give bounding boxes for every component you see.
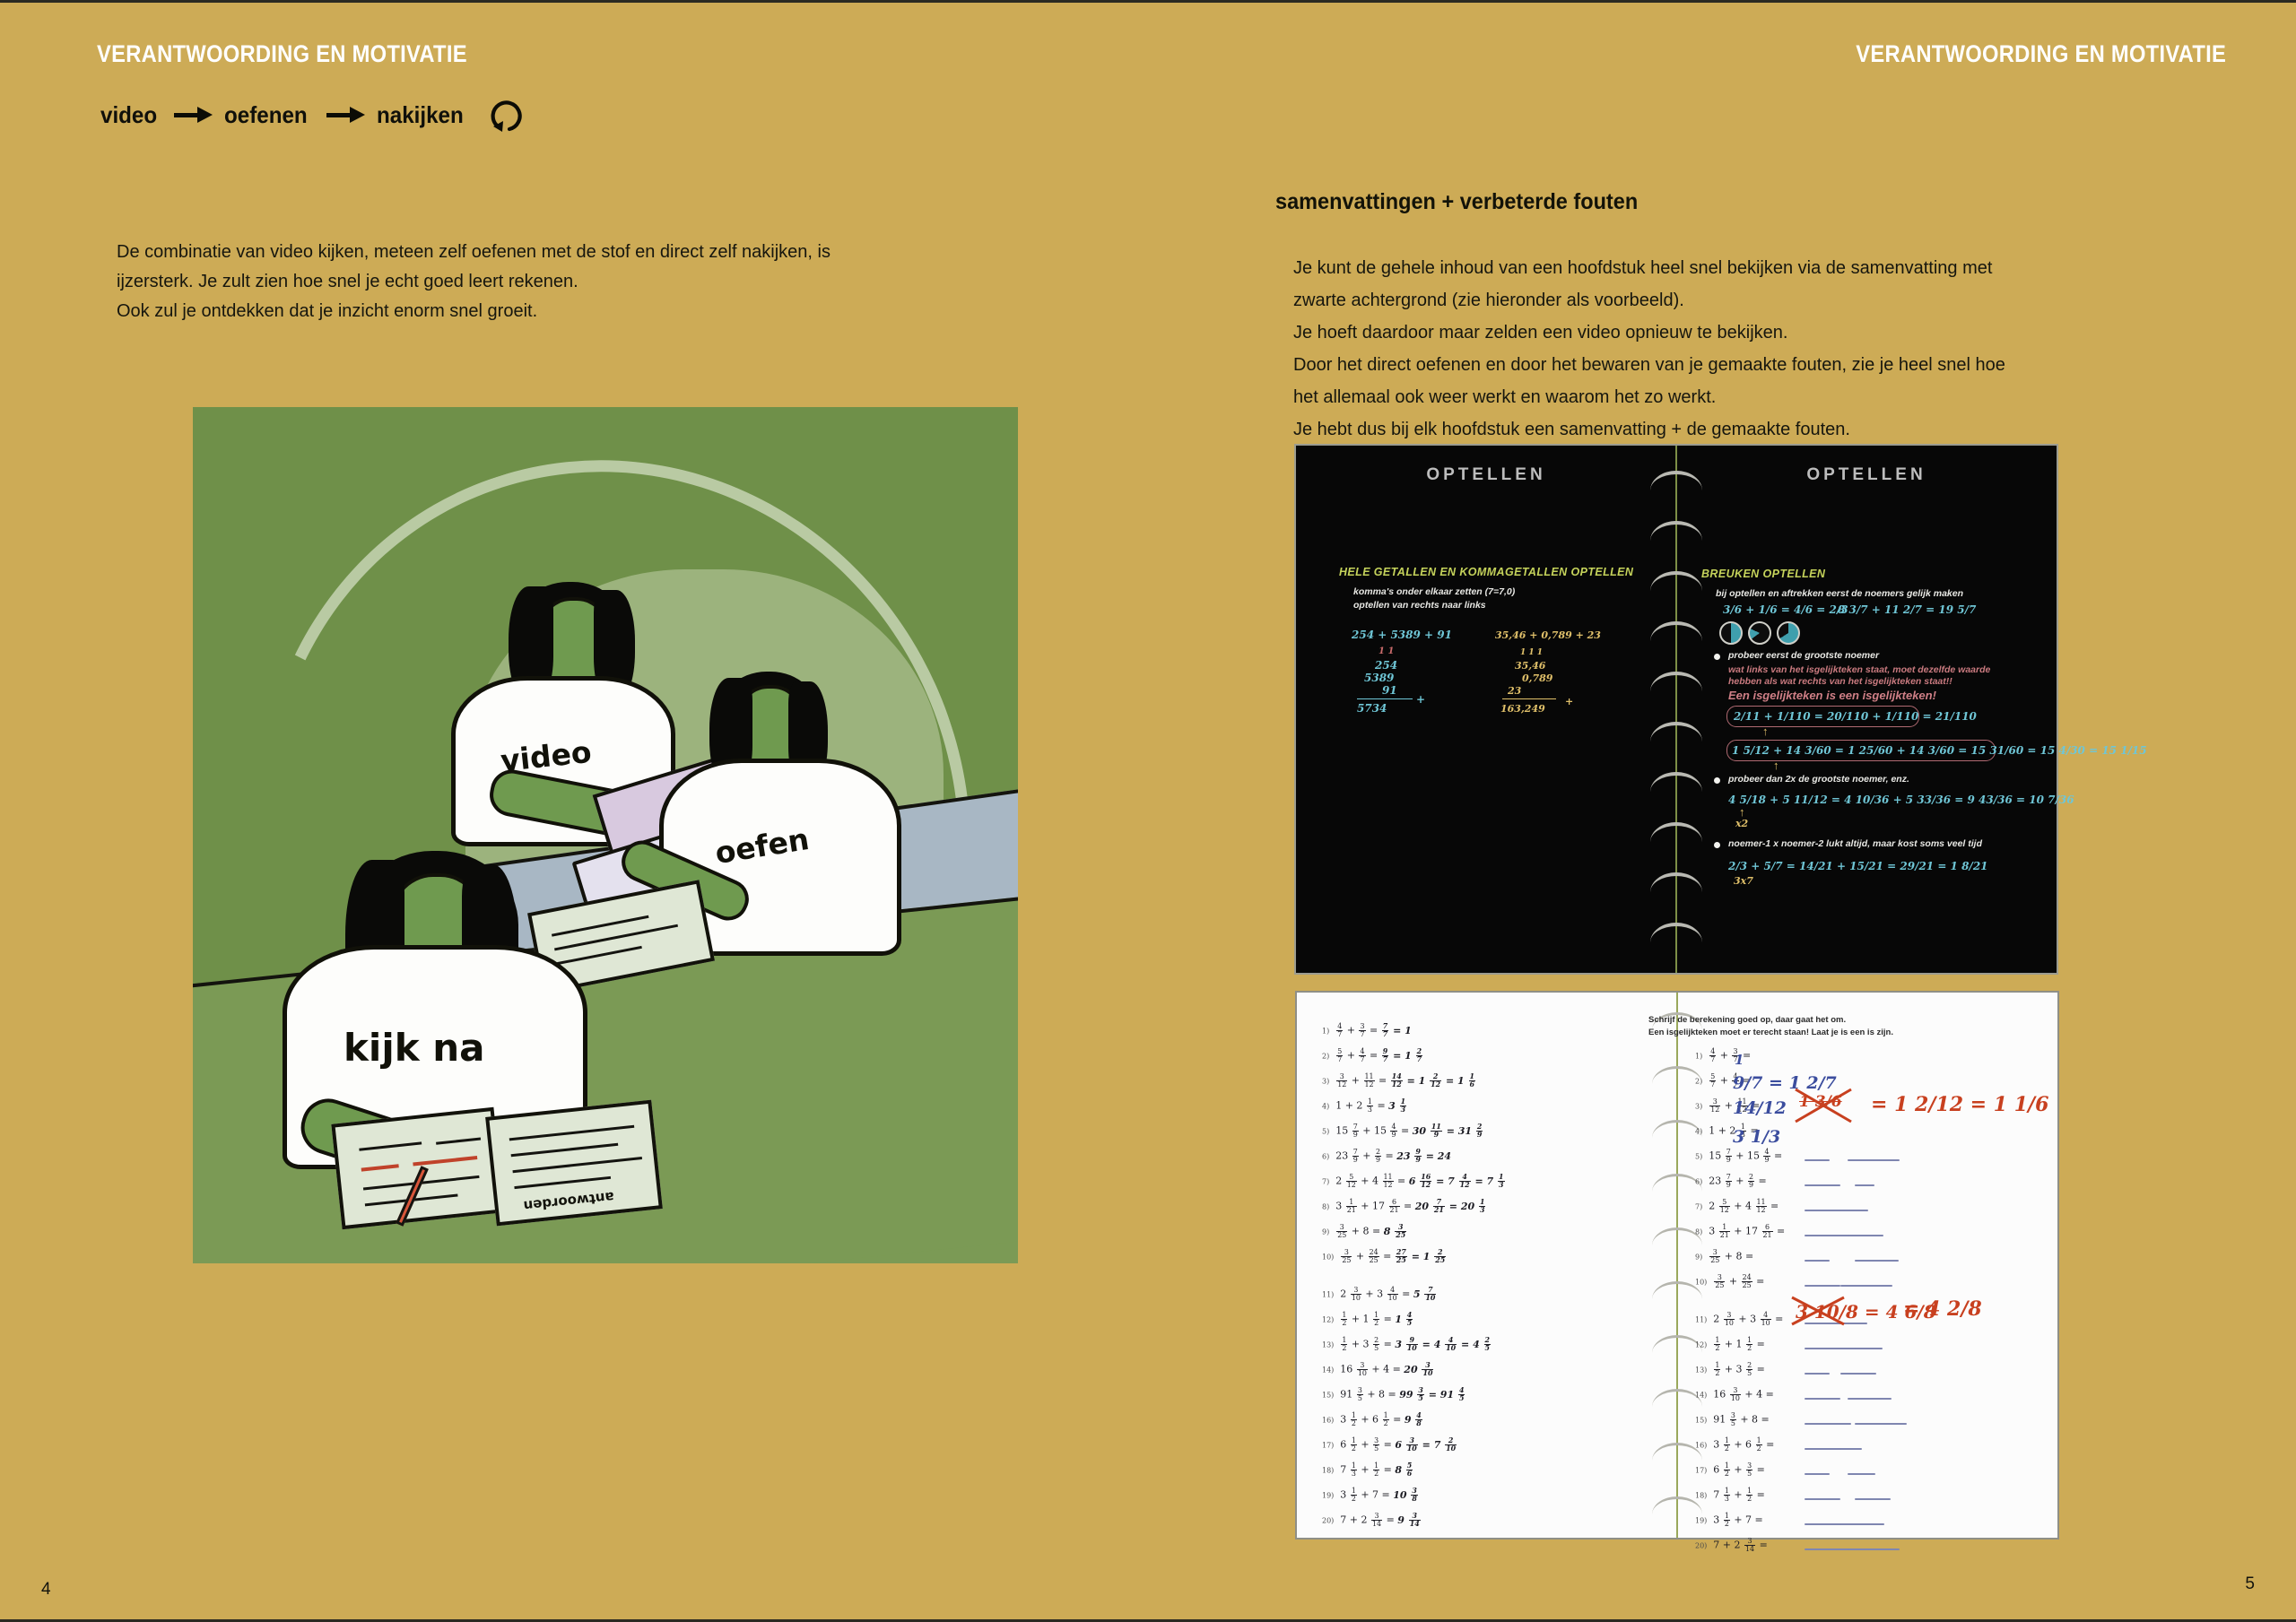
black-sum-b-term-3: 23 xyxy=(1508,684,1521,698)
worksheet-answer-blank xyxy=(1848,1473,1875,1475)
black-summary-notebook-spread: OPTELLEN HELE GETALLEN EN KOMMAGETALLEN … xyxy=(1294,444,2058,975)
worksheet-right-exercise-row: 20) 7 + 2 314 = xyxy=(1695,1538,1768,1553)
illustration-exercise-book xyxy=(331,1107,504,1229)
cross-out-icon xyxy=(1792,1086,1857,1125)
worksheet-answer-blank xyxy=(1840,1210,1868,1211)
worksheet-right-exercise-row: 11) 2 310 + 3 410 = xyxy=(1695,1312,1783,1327)
cross-out-icon-2 xyxy=(1788,1294,1851,1330)
worksheet-answer-blank xyxy=(1848,1159,1900,1161)
black-chain-3: 4 5/18 + 5 11/12 = 4 10/36 + 5 33/36 = 9… xyxy=(1728,794,2074,806)
black-sum-b-rule xyxy=(1502,698,1556,699)
worksheet-left-exercise-row: 7) 2 512 + 4 1112 = 6 1612 = 7 412 = 7 1… xyxy=(1322,1174,1506,1189)
worksheet-left-exercise-row: 10) 325 + 2425 = 2725 = 1 225 xyxy=(1322,1249,1447,1264)
black-sum-a-plus: + xyxy=(1416,693,1425,706)
workflow-step-nakijken: nakijken xyxy=(377,101,464,129)
worksheet-left-exercise-row: 17) 6 12 + 35 = 6 310 = 7 210 xyxy=(1322,1437,1457,1453)
worksheet-right-exercise-row: 17) 6 12 + 35 = xyxy=(1695,1462,1765,1478)
worksheet-left-exercise-row: 16) 3 12 + 6 12 = 9 48 xyxy=(1322,1412,1423,1427)
worksheet-right-exercise-row: 19) 3 12 + 7 = xyxy=(1695,1513,1763,1528)
worksheet-left-exercise-row: 6) 23 79 + 29 = 23 99 = 24 xyxy=(1322,1149,1451,1164)
black-chain-4: 2/3 + 5/7 = 14/21 + 15/21 = 29/21 = 1 8/… xyxy=(1728,860,1988,872)
black-annotation-x2: x2 xyxy=(1735,817,1748,830)
page-number-left: 4 xyxy=(41,1580,51,1600)
black-sum-b-total: 163,249 xyxy=(1500,702,1545,716)
worksheet-answer-blank xyxy=(1805,1184,1840,1186)
black-sum-a-expression: 254 + 5389 + 91 xyxy=(1352,629,1452,641)
worksheet-answer-blank xyxy=(1805,1373,1830,1375)
worksheet-answer-blank xyxy=(1840,1448,1860,1450)
worksheet-answer-blank xyxy=(1805,1260,1830,1262)
right-paragraph-line-4: Door het direct oefenen en door het bewa… xyxy=(1293,349,2083,381)
right-paragraph-line-1: Je kunt de gehele inhoud van een hoofdst… xyxy=(1293,252,2083,284)
worksheet-answer-blank xyxy=(1840,1373,1876,1375)
right-paragraph-line-3: Je hoeft daardoor maar zelden een video … xyxy=(1293,317,2083,349)
worksheet-left-exercise-row: 3) 312 + 1112 = 1412 = 1 212 = 1 16 xyxy=(1322,1073,1476,1089)
worksheet-left-exercise-row: 13) 12 + 3 25 = 3 910 = 4 410 = 4 25 xyxy=(1322,1337,1492,1352)
worksheet-answer-blank xyxy=(1848,1235,1883,1236)
worksheet-left-exercise-row: 15) 91 35 + 8 = 99 35 = 91 45 xyxy=(1322,1387,1465,1402)
worksheet-left-exercise-row: 8) 3 121 + 17 621 = 20 721 = 20 13 xyxy=(1322,1199,1486,1214)
black-sum-a-total: 5734 xyxy=(1357,702,1387,715)
worksheet-answer-blank xyxy=(1805,1348,1862,1349)
black-sum-b-term-2: 0,789 xyxy=(1522,672,1552,685)
worksheet-answer-blank xyxy=(1848,1398,1892,1400)
workflow-diagram: video oefenen nakijken xyxy=(100,96,529,134)
black-sum-a-term-2: 5389 xyxy=(1364,672,1394,684)
worksheet-left-exercise-row: 5) 15 79 + 15 49 = 30 119 = 31 29 xyxy=(1322,1123,1483,1139)
black-warning-big: Een isgelijkteken is een isgelijkteken! xyxy=(1728,689,1936,702)
black-right-heading: BREUKEN OPTELLEN xyxy=(1701,568,1825,580)
arrow-up-icon-1: ↑ xyxy=(1762,725,1769,737)
bullet-icon-3 xyxy=(1714,842,1720,848)
black-left-heading: HELE GETALLEN EN KOMMAGETALLEN OPTELLEN xyxy=(1339,566,1633,578)
worksheet-right-exercise-row: 5) 15 79 + 15 49 = xyxy=(1695,1149,1782,1164)
worksheet-left-exercise-row: 19) 3 12 + 7 = 10 38 xyxy=(1322,1488,1419,1503)
right-paragraph-line-5: het allemaal ook weer werkt en waarom he… xyxy=(1293,381,2083,413)
black-sum-b-term-1: 35,46 xyxy=(1515,659,1545,672)
worksheet-instruction-line-2: Een isgelijkteken moet er terecht staan!… xyxy=(1648,1027,1893,1039)
bullet-icon-1 xyxy=(1714,654,1720,660)
page-number-right: 5 xyxy=(2245,1574,2255,1594)
worksheet-answer-blank xyxy=(1840,1285,1892,1287)
worksheet-answer-blank xyxy=(1855,1498,1891,1500)
black-chain-1: 2/11 + 1/110 = 20/110 + 1/110 = 21/110 xyxy=(1734,710,1977,723)
worksheet-left-exercise-row: 18) 7 13 + 12 = 8 56 xyxy=(1322,1462,1413,1478)
black-page-right-title: OPTELLEN xyxy=(1676,465,2057,485)
workflow-step-video: video xyxy=(100,101,157,129)
worksheet-answer-blank xyxy=(1855,1423,1907,1425)
running-head-left: VERANTWOORDING EN MOTIVATIE xyxy=(97,40,467,68)
illustration-answer-book-label: antwoorden xyxy=(523,1189,615,1215)
pie-chart-icon-1 xyxy=(1719,621,1743,645)
workflow-step-oefenen: oefenen xyxy=(224,101,308,129)
worksheet-answer-blank xyxy=(1848,1548,1900,1550)
worksheet-right-exercise-row: 13) 12 + 3 25 = xyxy=(1695,1362,1765,1377)
black-right-note: bij optellen en aftrekken eerst de noeme… xyxy=(1716,587,1963,601)
teacher-correction-top: = 1 2/12 = 1 1/6 xyxy=(1871,1093,2048,1116)
arrow-up-icon-2: ↑ xyxy=(1773,759,1779,771)
worksheet-answer-blank xyxy=(1805,1285,1840,1287)
worksheet-right-exercise-row: 12) 12 + 1 12 = xyxy=(1695,1337,1765,1352)
black-bullet-3: noemer-1 x noemer-2 lukt altijd, maar ko… xyxy=(1728,837,1982,851)
worksheet-right-exercise-row: 6) 23 79 + 29 = xyxy=(1695,1174,1767,1189)
worksheet-answer-blank xyxy=(1805,1159,1830,1161)
black-sum-a-term-1: 254 xyxy=(1375,659,1397,672)
black-left-note-1: komma's onder elkaar zetten (7=7,0) xyxy=(1353,585,1515,599)
black-page-right: OPTELLEN BREUKEN OPTELLEN bij optellen e… xyxy=(1676,446,2057,973)
right-paragraph-line-2: zwarte achtergrond (zie hieronder als vo… xyxy=(1293,284,2083,317)
worksheet-right-exercise-row: 10) 325 + 2425 = xyxy=(1695,1274,1764,1289)
teacher-correction-bottom-result: = 4 2/8 xyxy=(1903,1297,1982,1321)
student-answer-3: 14/12 xyxy=(1733,1098,1787,1118)
black-warning-2: hebben als wat rechts van het isgelijkte… xyxy=(1728,675,1952,689)
worksheet-right-exercise-row: 9) 325 + 8 = xyxy=(1695,1249,1753,1264)
worksheet-left-exercise-row: 14) 16 310 + 4 = 20 310 xyxy=(1322,1362,1434,1377)
worksheet-answer-blank xyxy=(1805,1423,1851,1425)
black-example-2: 8 3/7 + 11 2/7 = 19 5/7 xyxy=(1838,603,1976,616)
section-subheading: samenvattingen + verbeterde fouten xyxy=(1275,189,1638,215)
pie-chart-icon-3 xyxy=(1777,621,1800,645)
worksheet-left-exercise-row: 12) 12 + 1 12 = 1 45 xyxy=(1322,1312,1413,1327)
worksheet-left-exercise-row: 1) 47 + 37 = 77 = 1 xyxy=(1322,1023,1412,1038)
worksheet-left-exercise-row: 9) 325 + 8 = 8 325 xyxy=(1322,1224,1407,1239)
left-paragraph-line-3: Ook zul je ontdekken dat je inzicht enor… xyxy=(117,297,897,326)
three-students-studying-illustration: video oefen xyxy=(193,407,1018,1263)
illustration-answer-book: antwoorden xyxy=(485,1100,663,1227)
student-answer-1: 1 xyxy=(1735,1052,1744,1068)
worksheet-answer-blank xyxy=(1855,1260,1899,1262)
black-sum-b-expression: 35,46 + 0,789 + 23 xyxy=(1495,629,1601,642)
left-paragraph: De combinatie van video kijken, meteen z… xyxy=(117,238,897,326)
worksheet-right-exercise-row: 15) 91 35 + 8 = xyxy=(1695,1412,1770,1427)
black-sum-a-term-3: 91 xyxy=(1382,684,1397,697)
black-example-1: 3/6 + 1/6 = 4/6 = 2/3 xyxy=(1723,603,1848,616)
black-bullet-1: probeer eerst de grootste noemer xyxy=(1728,649,1879,663)
arrow-right-icon xyxy=(174,105,212,125)
worksheet-answer-blank xyxy=(1855,1348,1883,1349)
arrow-right-icon-2 xyxy=(326,105,364,125)
student-kijkna-shirt-label: kijk na xyxy=(344,1026,485,1070)
right-paragraph-line-6: Je hebt dus bij elk hoofdstuk een samenv… xyxy=(1293,413,2083,446)
worksheet-instruction: Schrijf de berekening goed op, daar gaat… xyxy=(1648,1014,1893,1039)
black-chain-2: 1 5/12 + 14 3/60 = 1 25/60 + 14 3/60 = 1… xyxy=(1732,744,2147,757)
worksheet-right-exercise-row: 8) 3 121 + 17 621 = xyxy=(1695,1224,1785,1239)
black-sum-a-rule xyxy=(1357,698,1413,699)
worksheet-right-exercise-row: 16) 3 12 + 6 12 = xyxy=(1695,1437,1774,1453)
left-paragraph-line-1: De combinatie van video kijken, meteen z… xyxy=(117,238,897,267)
black-page-left: OPTELLEN HELE GETALLEN EN KOMMAGETALLEN … xyxy=(1296,446,1676,973)
black-sum-b-plus: + xyxy=(1565,695,1573,708)
worksheet-right-exercise-row: 18) 7 13 + 12 = xyxy=(1695,1488,1765,1503)
worksheet-answer-blank xyxy=(1840,1523,1884,1525)
worksheet-right-exercise-row: 14) 16 310 + 4 = xyxy=(1695,1387,1774,1402)
black-left-note-2: optellen van rechts naar links xyxy=(1353,599,1486,612)
worksheet-answer-blank xyxy=(1805,1398,1840,1400)
worksheet-left-exercise-row: 2) 57 + 47 = 97 = 1 27 xyxy=(1322,1048,1423,1063)
worksheet-answer-blank xyxy=(1805,1473,1830,1475)
running-head-right: VERANTWOORDING EN MOTIVATIE xyxy=(1856,40,2226,68)
worksheet-right-exercise-row: 7) 2 512 + 4 1112 = xyxy=(1695,1199,1779,1214)
black-page-left-title: OPTELLEN xyxy=(1296,465,1676,485)
left-paragraph-line-2: ijzersterk. Je zult zien hoe snel je ech… xyxy=(117,267,897,297)
bullet-icon-2 xyxy=(1714,777,1720,784)
black-annotation-mult: 3x7 xyxy=(1734,874,1753,888)
book-spread: VERANTWOORDING EN MOTIVATIE video oefene… xyxy=(0,0,2296,1622)
circular-arrow-icon xyxy=(488,96,529,134)
pie-chart-icon-2 xyxy=(1748,621,1771,645)
left-page: VERANTWOORDING EN MOTIVATIE video oefene… xyxy=(0,3,1148,1622)
black-sum-a-carries: 1 1 xyxy=(1378,646,1394,656)
white-worksheet-notebook-spread: 1) 47 + 37 = 77 = 12) 57 + 47 = 97 = 1 2… xyxy=(1295,991,2059,1540)
black-bullet-2: probeer dan 2x de grootste noemer, enz. xyxy=(1728,773,1909,786)
worksheet-left-exercise-row: 4) 1 + 2 13 = 3 13 xyxy=(1322,1098,1407,1114)
worksheet-instruction-line-1: Schrijf de berekening goed op, daar gaat… xyxy=(1648,1014,1893,1027)
worksheet-left-exercise-row: 20) 7 + 2 314 = 9 314 xyxy=(1322,1513,1422,1528)
worksheet-answer-blank xyxy=(1805,1498,1840,1500)
worksheet-left-exercise-row: 11) 2 310 + 3 410 = 5 710 xyxy=(1322,1287,1437,1302)
worksheet-answer-blank xyxy=(1855,1184,1874,1186)
student-answer-4: 3 1/3 xyxy=(1733,1127,1780,1147)
black-sum-b-carries: 1 1 1 xyxy=(1520,646,1543,660)
